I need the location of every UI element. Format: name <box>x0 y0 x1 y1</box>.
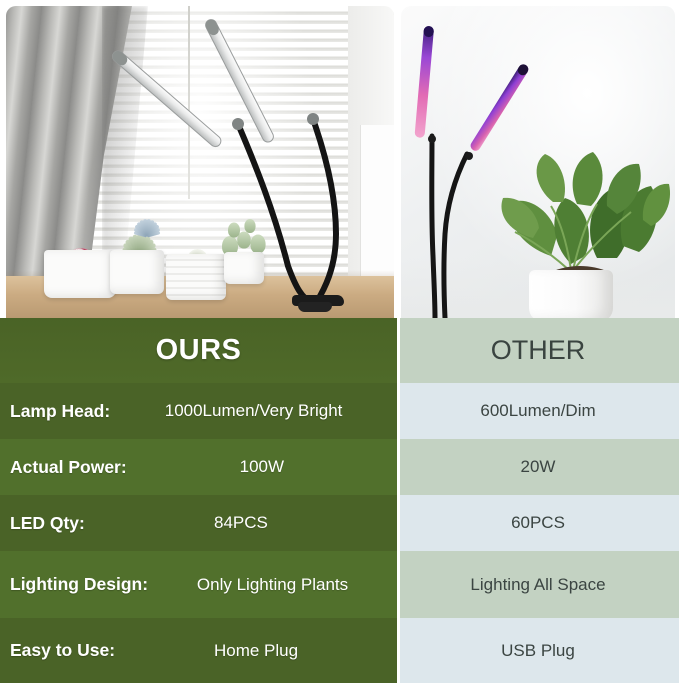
other-photo-frame <box>401 6 675 318</box>
ours-value-lamp-head: 1000Lumen/Very Bright <box>110 401 397 421</box>
ours-column: OURS Lamp Head: 1000Lumen/Very Bright Ac… <box>0 318 397 683</box>
table-row: Lighting All Space <box>397 551 679 618</box>
other-header: OTHER <box>397 318 679 383</box>
row-label-led-qty: LED Qty: <box>0 513 85 534</box>
table-row: LED Qty: 84PCS <box>0 495 397 551</box>
table-row: 60PCS <box>397 495 679 551</box>
other-value-lamp-head: 600Lumen/Dim <box>397 401 679 421</box>
white-plant-pot <box>529 270 613 318</box>
table-row: 600Lumen/Dim <box>397 383 679 439</box>
other-column: OTHER 600Lumen/Dim 20W 60PCS Lighting Al… <box>397 318 679 683</box>
column-divider <box>397 318 400 683</box>
table-row: USB Plug <box>397 618 679 683</box>
table-row: Lighting Design: Only Lighting Plants <box>0 551 397 618</box>
other-value-actual-power: 20W <box>397 457 679 477</box>
table-row: 20W <box>397 439 679 495</box>
other-value-led-qty: 60PCS <box>397 513 679 533</box>
ours-value-led-qty: 84PCS <box>85 513 397 533</box>
ours-value-actual-power: 100W <box>127 457 397 477</box>
product-photo-band <box>0 0 679 318</box>
other-value-easy-to-use: USB Plug <box>397 641 679 661</box>
ours-product-photo <box>0 0 397 318</box>
ours-header: OURS <box>0 318 397 383</box>
table-row: Lamp Head: 1000Lumen/Very Bright <box>0 383 397 439</box>
table-row: Actual Power: 100W <box>0 439 397 495</box>
row-label-easy-to-use: Easy to Use: <box>0 640 115 661</box>
clip-lamp-goosenecks <box>6 6 394 318</box>
ours-value-easy-to-use: Home Plug <box>115 641 397 661</box>
other-header-label: OTHER <box>491 335 586 366</box>
ours-photo-frame <box>6 6 394 318</box>
ours-value-lighting-design: Only Lighting Plants <box>148 575 397 595</box>
other-value-lighting-design: Lighting All Space <box>397 575 679 595</box>
lamp-clamp <box>292 286 348 312</box>
comparison-table: OURS Lamp Head: 1000Lumen/Very Bright Ac… <box>0 318 679 683</box>
table-row: Easy to Use: Home Plug <box>0 618 397 683</box>
row-label-actual-power: Actual Power: <box>0 457 127 478</box>
row-label-lighting-design: Lighting Design: <box>0 574 148 595</box>
ours-header-label: OURS <box>156 334 242 367</box>
row-label-lamp-head: Lamp Head: <box>0 401 110 422</box>
other-product-photo <box>397 0 679 318</box>
